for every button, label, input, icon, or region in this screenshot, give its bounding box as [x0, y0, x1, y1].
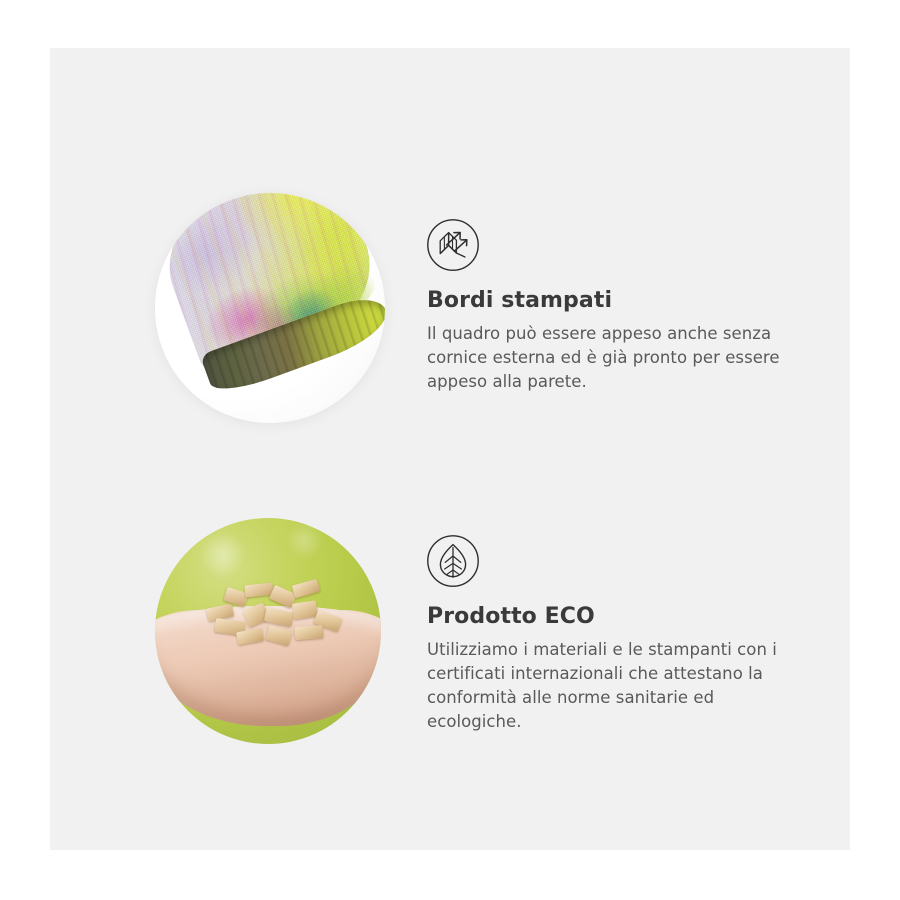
eco-product-text: Prodotto ECO Utilizziamo i materiali e l… — [427, 604, 799, 734]
wood-chip — [292, 579, 321, 599]
feature-title: Bordi stampati — [427, 288, 799, 314]
feature-title: Prodotto ECO — [427, 604, 799, 630]
wood-chip — [265, 625, 292, 646]
wood-chips — [201, 580, 347, 658]
feature-description: Utilizziamo i materiali e le stampanti c… — [427, 638, 799, 734]
content-panel: Bordi stampati Il quadro può essere appe… — [50, 48, 850, 850]
feature-eco-product: Prodotto ECO Utilizziamo i materiali e l… — [50, 328, 850, 628]
wood-chip — [292, 600, 318, 619]
feature-printed-edges: Bordi stampati Il quadro può essere appe… — [50, 48, 850, 348]
wrapped-canvas-edges-icon — [426, 218, 480, 272]
wood-chip — [295, 625, 324, 640]
eco-product-image — [155, 518, 381, 744]
leaf-icon — [426, 534, 480, 588]
wood-chip — [264, 607, 294, 627]
product-feature-page: Bordi stampati Il quadro può essere appe… — [0, 0, 900, 900]
